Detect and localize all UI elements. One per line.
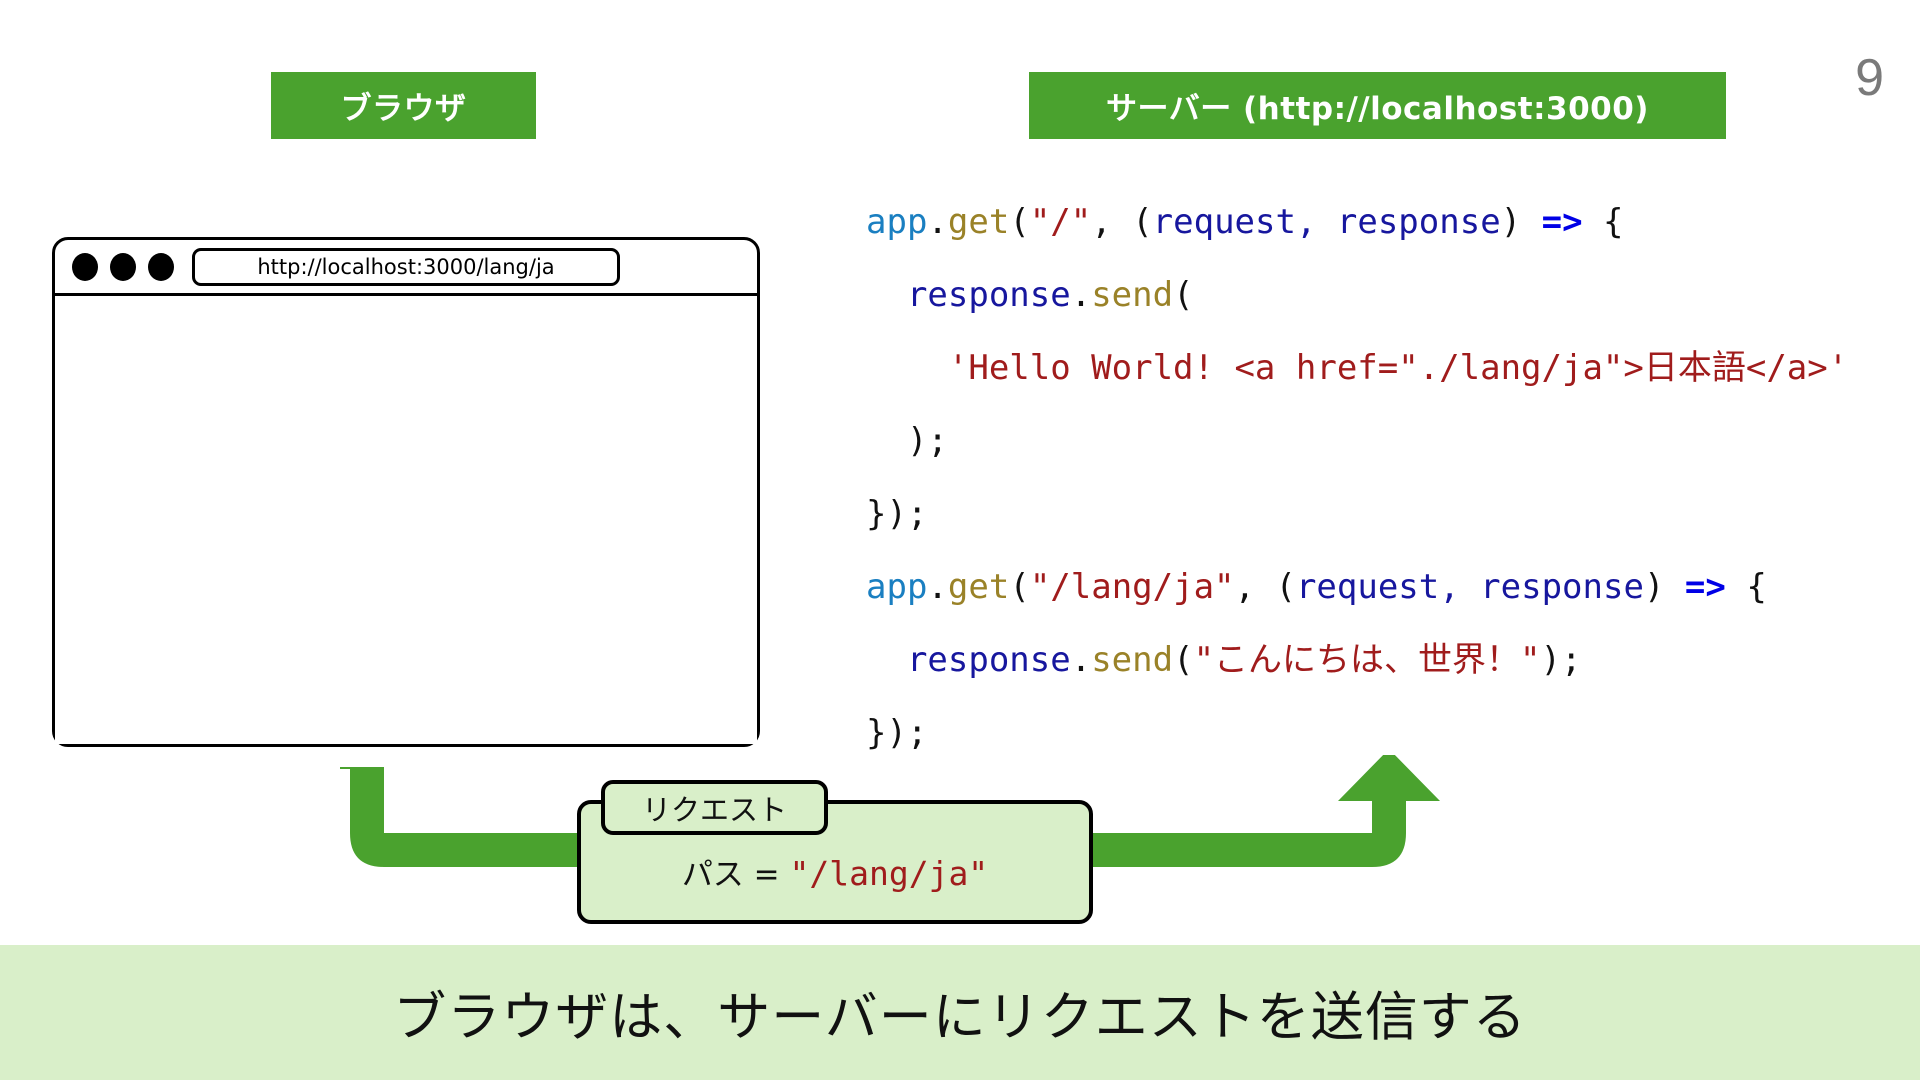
code-line: app.get("/lang/ja", (request, response) … — [866, 551, 1848, 624]
request-path-value: "/lang/ja" — [790, 854, 989, 893]
browser-panel-header: ブラウザ — [271, 72, 536, 139]
code-token-punc: . — [927, 202, 947, 242]
traffic-light-dot-icon[interactable] — [72, 253, 98, 281]
code-token-str: "/" — [1030, 202, 1091, 242]
code-token-punc: ( — [1173, 640, 1193, 680]
traffic-light-dot-icon[interactable] — [148, 253, 174, 281]
code-token-punc: ( — [1275, 567, 1295, 607]
caption-text: ブラウザは、サーバーにリクエストを送信する — [393, 975, 1526, 1051]
code-indent — [866, 348, 948, 388]
server-code-block: app.get("/", (request, response) => { re… — [866, 186, 1848, 770]
code-token-param: response — [907, 640, 1071, 680]
code-token-fn: send — [1091, 640, 1173, 680]
code-token-punc: { — [1583, 202, 1624, 242]
code-token-punc: , — [1235, 567, 1276, 607]
url-address-bar[interactable]: http://localhost:3000/lang/ja — [192, 248, 620, 286]
code-line: response.send("こんにちは、世界！"); — [866, 624, 1848, 697]
code-token-param: response — [907, 275, 1071, 315]
code-token-fn: get — [948, 567, 1009, 607]
code-token-punc: ( — [1173, 275, 1193, 315]
traffic-light-dot-icon[interactable] — [110, 253, 136, 281]
request-arrow-cap — [340, 767, 384, 769]
code-token-punc: }); — [866, 713, 927, 753]
code-token-str: "こんにちは、世界！" — [1194, 640, 1541, 680]
code-token-punc: ); — [907, 421, 948, 461]
code-line: app.get("/", (request, response) => { — [866, 186, 1848, 259]
code-token-punc: . — [1071, 275, 1091, 315]
request-callout-tab: リクエスト — [601, 780, 828, 835]
code-token-punc: ( — [1132, 202, 1152, 242]
code-token-obj: app — [866, 202, 927, 242]
code-token-punc: ); — [1541, 640, 1582, 680]
code-token-punc: ( — [1009, 567, 1029, 607]
code-indent — [866, 640, 907, 680]
code-line: 'Hello World! <a href="./lang/ja">日本語</a… — [866, 332, 1848, 405]
code-indent — [866, 275, 907, 315]
code-indent — [866, 421, 907, 461]
code-line: ); — [866, 405, 1848, 478]
code-token-param: request, response — [1296, 567, 1644, 607]
code-token-punc: ( — [1009, 202, 1029, 242]
code-token-fn: get — [948, 202, 1009, 242]
server-panel-header: サーバー (http://localhost:3000) — [1029, 72, 1726, 139]
code-token-fn: send — [1091, 275, 1173, 315]
browser-viewport — [55, 296, 757, 744]
code-line: }); — [866, 478, 1848, 551]
code-line: response.send( — [866, 259, 1848, 332]
code-token-param: request, response — [1153, 202, 1501, 242]
code-token-punc: ) — [1644, 567, 1685, 607]
page-number: 9 — [1855, 52, 1884, 104]
code-token-punc: , — [1091, 202, 1132, 242]
caption-bar: ブラウザは、サーバーにリクエストを送信する — [0, 945, 1920, 1080]
code-token-str: 'Hello World! <a href="./lang/ja">日本語</a… — [948, 348, 1848, 388]
code-token-punc: . — [927, 567, 947, 607]
code-token-obj: app — [866, 567, 927, 607]
browser-chrome-bar: http://localhost:3000/lang/ja — [55, 240, 757, 296]
code-token-punc: ) — [1501, 202, 1542, 242]
code-token-arrow: => — [1542, 202, 1583, 242]
request-path-label: パス = — [682, 857, 790, 893]
code-token-punc: . — [1071, 640, 1091, 680]
code-token-arrow: => — [1685, 567, 1726, 607]
code-token-str: "/lang/ja" — [1030, 567, 1235, 607]
request-callout-body: パス = "/lang/ja" — [682, 849, 988, 894]
code-token-punc: }); — [866, 494, 927, 534]
browser-window: http://localhost:3000/lang/ja — [52, 237, 760, 747]
code-token-punc: { — [1726, 567, 1767, 607]
